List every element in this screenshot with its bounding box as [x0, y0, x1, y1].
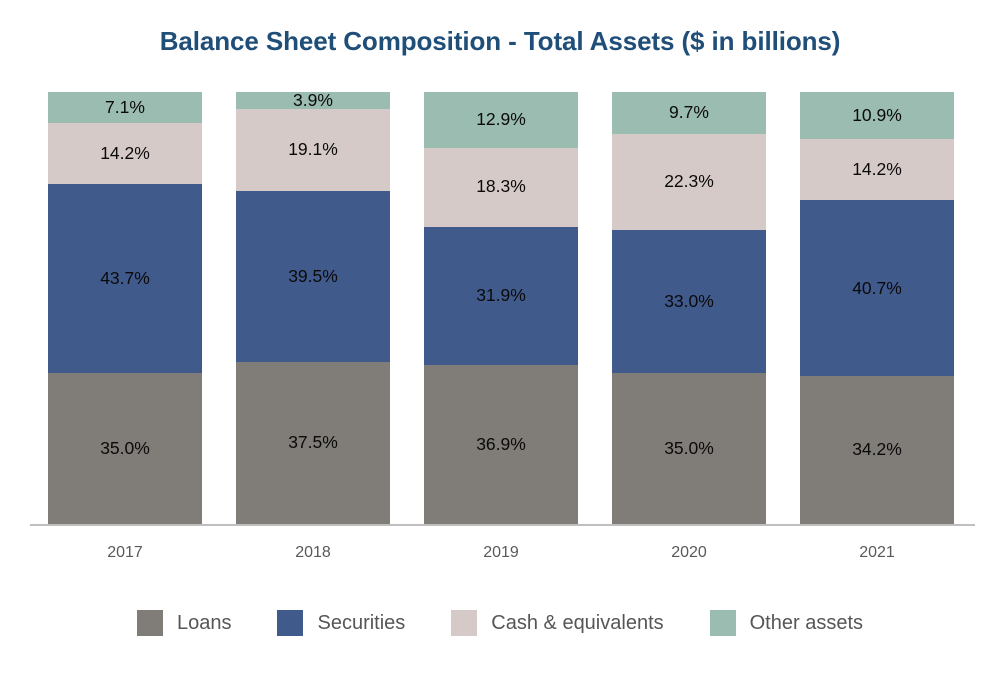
bar-segment-value-label: 39.5%	[288, 268, 338, 286]
x-axis-tick-label: 2017	[48, 544, 202, 562]
legend-item[interactable]: Cash & equivalents	[451, 610, 663, 636]
bar-segment[interactable]: 31.9%	[424, 227, 578, 365]
legend-color-swatch	[277, 610, 303, 636]
x-axis-tick-label: 2018	[236, 544, 390, 562]
bar-segment-value-label: 40.7%	[852, 280, 902, 298]
bar-segment[interactable]: 43.7%	[48, 184, 202, 373]
bar-stack: 10.9%14.2%40.7%34.2%	[800, 92, 954, 524]
bar-segment-value-label: 35.0%	[664, 440, 714, 458]
bar-segment[interactable]: 7.1%	[48, 92, 202, 123]
legend-item[interactable]: Loans	[137, 610, 232, 636]
bar-segment-value-label: 35.0%	[100, 440, 150, 458]
bar-segment[interactable]: 14.2%	[48, 123, 202, 184]
legend-series-label: Loans	[177, 612, 232, 635]
plot-area: 7.1%14.2%43.7%35.0%3.9%19.1%39.5%37.5%12…	[0, 0, 1000, 680]
bar-group[interactable]: 12.9%18.3%31.9%36.9%	[424, 92, 578, 524]
bar-group[interactable]: 3.9%19.1%39.5%37.5%	[236, 92, 390, 524]
bar-segment[interactable]: 19.1%	[236, 109, 390, 192]
bar-segment[interactable]: 37.5%	[236, 362, 390, 524]
bar-segment-value-label: 43.7%	[100, 270, 150, 288]
bar-stack: 12.9%18.3%31.9%36.9%	[424, 92, 578, 524]
bar-segment[interactable]: 35.0%	[612, 373, 766, 524]
bar-segment[interactable]: 36.9%	[424, 365, 578, 524]
bar-segment-value-label: 9.7%	[669, 104, 709, 122]
bar-segment[interactable]: 40.7%	[800, 200, 954, 376]
legend-series-label: Securities	[317, 612, 405, 635]
legend-color-swatch	[451, 610, 477, 636]
legend-item[interactable]: Other assets	[710, 610, 863, 636]
legend-item[interactable]: Securities	[277, 610, 405, 636]
legend-series-label: Cash & equivalents	[491, 612, 663, 635]
x-axis-line	[30, 524, 975, 526]
bar-segment-value-label: 14.2%	[852, 161, 902, 179]
legend-color-swatch	[137, 610, 163, 636]
bar-segment[interactable]: 39.5%	[236, 191, 390, 362]
bar-segment-value-label: 34.2%	[852, 441, 902, 459]
bar-segment[interactable]: 14.2%	[800, 139, 954, 200]
bar-segment[interactable]: 33.0%	[612, 230, 766, 373]
bar-segment[interactable]: 35.0%	[48, 373, 202, 524]
legend-color-swatch	[710, 610, 736, 636]
bar-stack: 3.9%19.1%39.5%37.5%	[236, 92, 390, 524]
bar-group[interactable]: 7.1%14.2%43.7%35.0%	[48, 92, 202, 524]
x-axis-tick-label: 2019	[424, 544, 578, 562]
bar-segment[interactable]: 34.2%	[800, 376, 954, 524]
bar-segment[interactable]: 3.9%	[236, 92, 390, 109]
bar-group[interactable]: 9.7%22.3%33.0%35.0%	[612, 92, 766, 524]
bar-segment-value-label: 36.9%	[476, 436, 526, 454]
bar-segment-value-label: 18.3%	[476, 178, 526, 196]
bar-segment-value-label: 10.9%	[852, 107, 902, 125]
bar-segment[interactable]: 22.3%	[612, 134, 766, 230]
bar-segment-value-label: 33.0%	[664, 293, 714, 311]
bar-stack: 9.7%22.3%33.0%35.0%	[612, 92, 766, 524]
bar-segment-value-label: 14.2%	[100, 145, 150, 163]
x-axis-tick-label: 2020	[612, 544, 766, 562]
chart-container: Balance Sheet Composition - Total Assets…	[0, 0, 1000, 680]
bar-segment[interactable]: 10.9%	[800, 92, 954, 139]
bar-segment-value-label: 19.1%	[288, 141, 338, 159]
bar-segment-value-label: 12.9%	[476, 111, 526, 129]
bar-segment[interactable]: 12.9%	[424, 92, 578, 148]
bar-segment[interactable]: 9.7%	[612, 92, 766, 134]
bar-segment-value-label: 3.9%	[293, 92, 333, 110]
x-axis-tick-label: 2021	[800, 544, 954, 562]
bar-group[interactable]: 10.9%14.2%40.7%34.2%	[800, 92, 954, 524]
bar-segment-value-label: 7.1%	[105, 99, 145, 117]
bar-stack: 7.1%14.2%43.7%35.0%	[48, 92, 202, 524]
legend-series-label: Other assets	[750, 612, 863, 635]
bar-segment[interactable]: 18.3%	[424, 148, 578, 227]
bar-segment-value-label: 37.5%	[288, 434, 338, 452]
bar-segment-value-label: 22.3%	[664, 173, 714, 191]
chart-legend: LoansSecuritiesCash & equivalentsOther a…	[0, 610, 1000, 636]
bar-segment-value-label: 31.9%	[476, 287, 526, 305]
